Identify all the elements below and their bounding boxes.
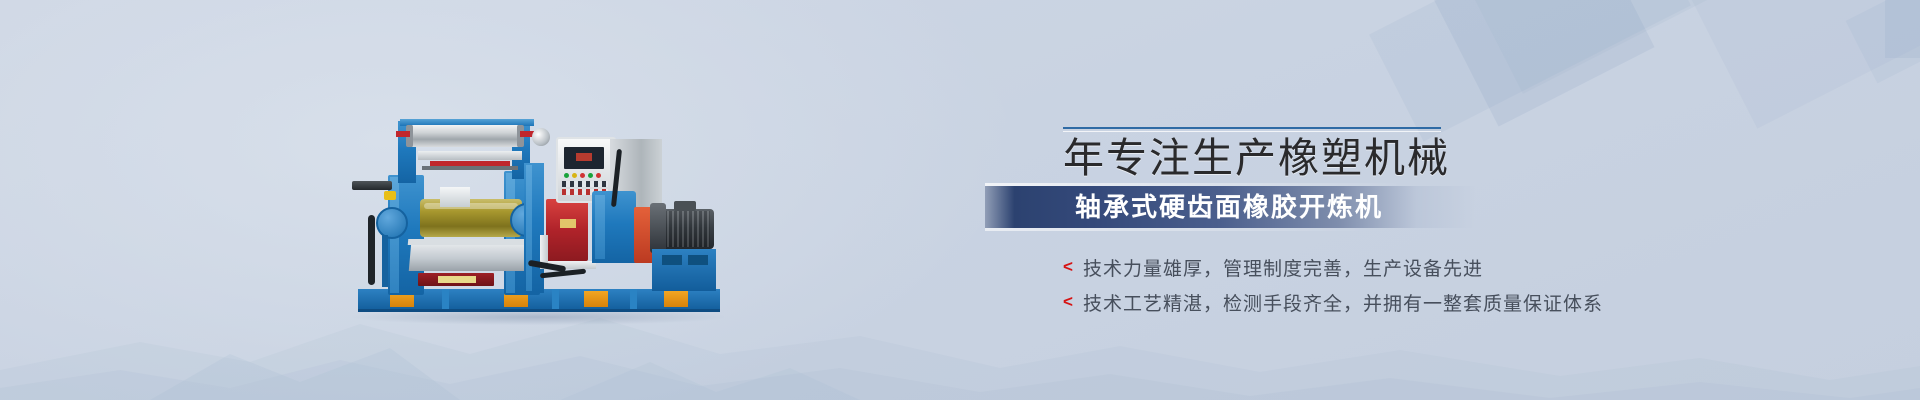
machine-top-roller-red-shaft-left [396, 131, 410, 137]
machine-top-roller [410, 125, 520, 147]
machine-left-hose [368, 215, 375, 285]
machine-button-row [562, 181, 608, 187]
subtitle-text: 轴承式硬齿面橡胶开炼机 [1075, 186, 1383, 228]
machine-motor-fan-cover [650, 203, 666, 253]
headline-rule [1063, 127, 1441, 129]
subtitle-bar: 轴承式硬齿面橡胶开炼机 [985, 186, 1475, 228]
deco-slab-3 [1473, 0, 1817, 94]
machine-indicator-light [564, 173, 569, 178]
deco-slab-5 [1846, 0, 1920, 83]
chevron-left-icon: < [1063, 293, 1073, 310]
machine-white-pipe-vert [540, 235, 548, 263]
machine-motor-mount-cutout [662, 255, 682, 265]
machine-left-emergency-button [384, 191, 396, 200]
machine-foot [584, 291, 608, 307]
machine-motor-junction-box [674, 201, 696, 211]
machine-red-gearbox-plate [560, 219, 576, 228]
machine-main-roller-gloss [424, 203, 518, 209]
machine-base-rib [552, 289, 559, 309]
machine-center-post-highlight [526, 165, 532, 291]
machine-motor-mount-cutout [688, 255, 708, 265]
machine-foot [664, 291, 688, 307]
machine-base-rib [442, 289, 449, 309]
feature-list: < 技术力量雄厚，管理制度完善，生产设备先进 < 技术工艺精湛，检测手段齐全，并… [1063, 250, 1603, 320]
chevron-left-icon: < [1063, 258, 1073, 275]
machine-mid-frame [422, 166, 518, 170]
page-title: 年专注生产橡塑机械 [1063, 133, 1450, 183]
machine-indicator-light [596, 173, 601, 178]
machine-red-gearbox [546, 199, 588, 261]
machine-motor-fins [662, 211, 710, 247]
machine-top-pulley [532, 128, 550, 146]
list-item-label: 技术工艺精湛，检测手段齐全，并拥有一整套质量保证体系 [1083, 289, 1603, 316]
product-image-rubber-mixing-mill [352, 103, 724, 318]
background-wave-silhouette [0, 250, 1920, 400]
list-item: < 技术工艺精湛，检测手段齐全，并拥有一整套质量保证体系 [1063, 285, 1603, 320]
machine-cable [540, 269, 586, 279]
list-item: < 技术力量雄厚，管理制度完善，生产设备先进 [1063, 250, 1603, 285]
machine-left-lever [352, 181, 392, 190]
deco-slab-2 [1430, 0, 1654, 127]
deco-slab-1 [1369, 0, 1691, 142]
machine-roller-cap-left [376, 207, 408, 239]
machine-indicator-light [580, 173, 585, 178]
machine-catch-pan [409, 243, 527, 271]
machine-base-shadowline [358, 309, 720, 312]
machine-mid-tray [418, 151, 522, 160]
machine-indicator-light [572, 173, 577, 178]
machine-catch-pan-lip [408, 239, 529, 245]
hero-banner: 年专注生产橡塑机械 轴承式硬齿面橡胶开炼机 < 技术力量雄厚，管理制度完善，生产… [0, 0, 1920, 400]
machine-nameplate-label [438, 276, 476, 283]
machine-control-panel-screen-readout [576, 153, 592, 161]
deco-slab-4 [1671, 0, 1920, 129]
machine-base-rib [630, 289, 637, 309]
machine-feed-chute [440, 187, 470, 207]
machine-left-pipe [382, 235, 388, 287]
deco-slab-edge [1885, 0, 1920, 58]
machine-gear-housing-highlight [595, 195, 605, 259]
machine-indicator-light [588, 173, 593, 178]
list-item-label: 技术力量雄厚，管理制度完善，生产设备先进 [1083, 254, 1483, 281]
